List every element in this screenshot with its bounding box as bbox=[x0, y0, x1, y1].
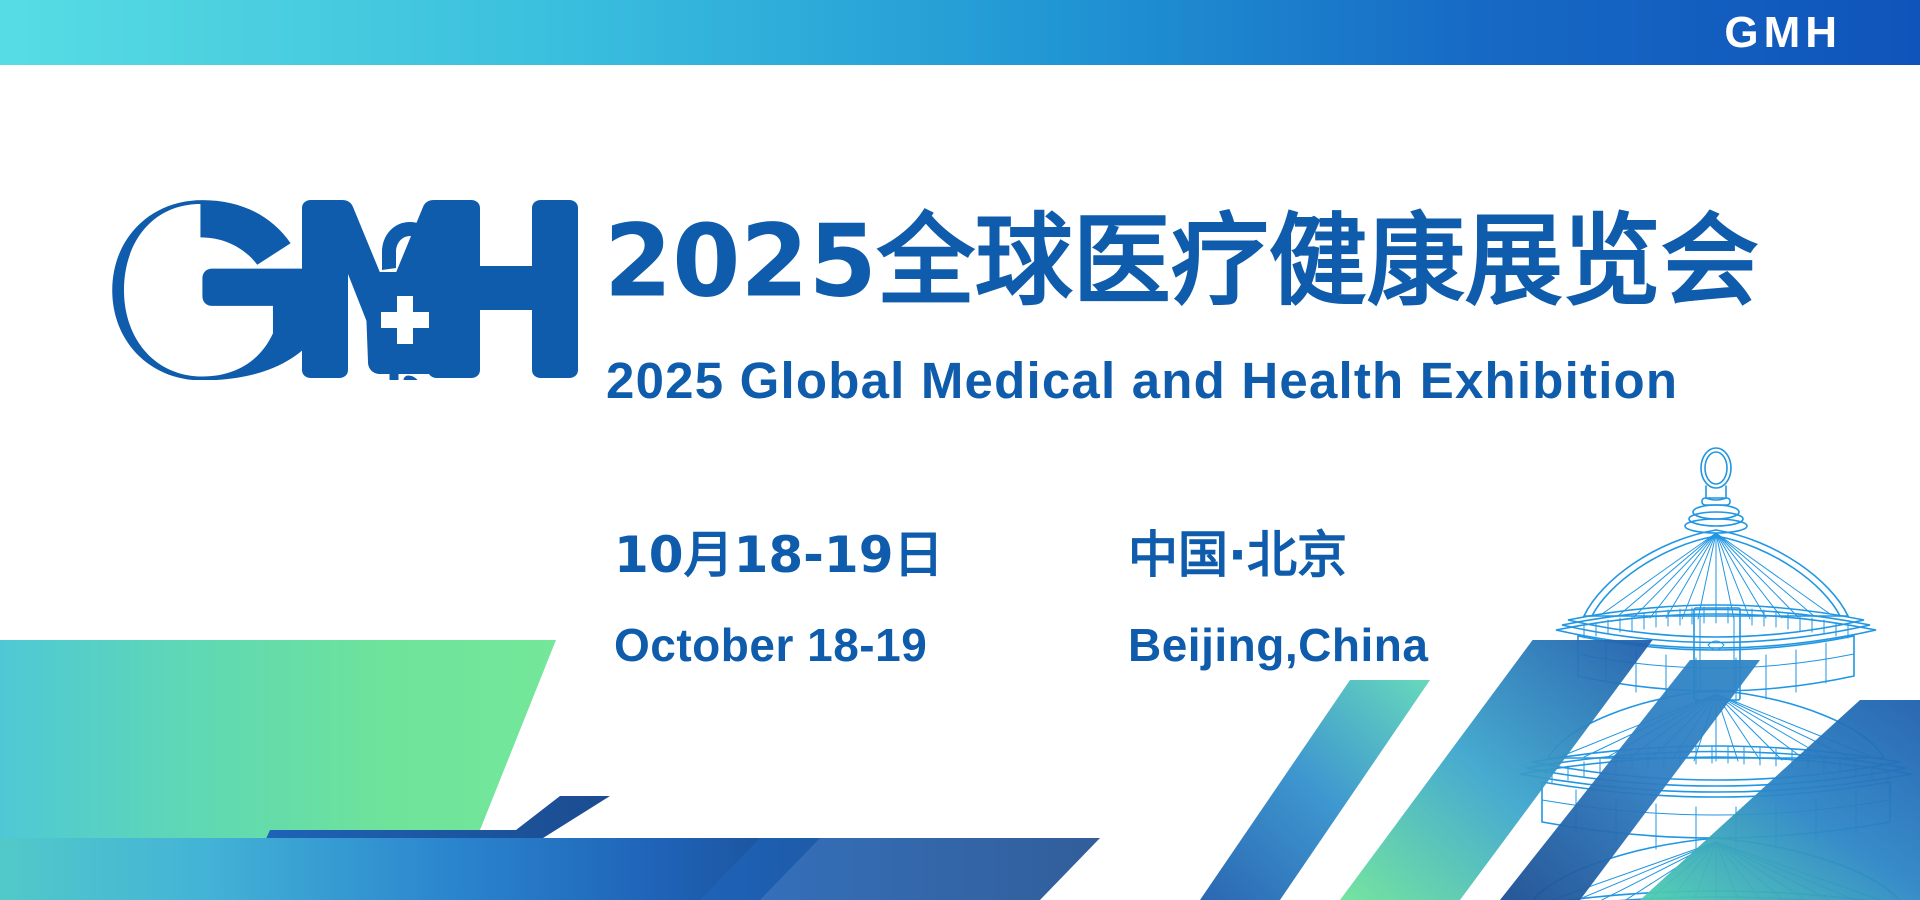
logo-letter-g bbox=[112, 200, 316, 380]
ribbon-bottom-band bbox=[0, 838, 820, 900]
temple-of-heaven-illustration bbox=[1506, 440, 1920, 900]
event-place-block: 中国·北京 Beijing,China bbox=[1128, 530, 1428, 668]
event-date-block: 10月18-19日 October 18-19 bbox=[614, 530, 944, 668]
event-place-en: Beijing,China bbox=[1128, 622, 1428, 668]
brand-wordmark: GMH bbox=[1724, 11, 1842, 55]
ribbon-diagonals bbox=[700, 640, 1920, 900]
bottom-ribbon-decoration bbox=[0, 640, 1920, 900]
page-title-cn: 2025全球医疗健康展览会 bbox=[604, 212, 1759, 312]
top-gradient-bar: GMH bbox=[0, 0, 1920, 65]
logo-letter-h bbox=[434, 200, 578, 378]
event-place-cn: 中国·北京 bbox=[1128, 530, 1428, 580]
page-title-en: 2025 Global Medical and Health Exhibitio… bbox=[606, 355, 1678, 406]
event-banner: GMH bbox=[0, 0, 1920, 900]
ribbon-green-slab bbox=[0, 640, 610, 900]
event-date-en: October 18-19 bbox=[614, 622, 944, 668]
gmh-logo bbox=[110, 200, 580, 380]
event-date-cn: 10月18-19日 bbox=[614, 530, 944, 580]
